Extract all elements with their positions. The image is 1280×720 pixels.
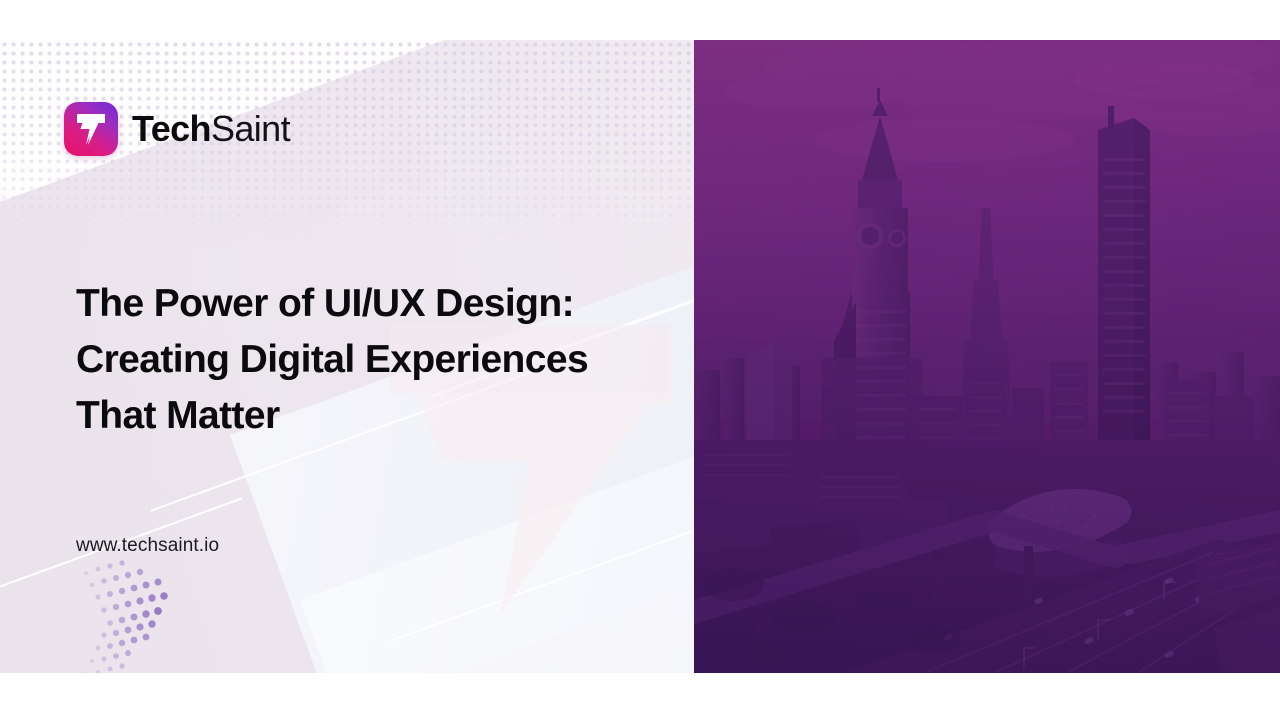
- left-content-panel: TechSaint The Power of UI/UX Design: Cre…: [0, 40, 694, 673]
- website-url[interactable]: www.techsaint.io: [76, 535, 219, 557]
- presentation-slide: TechSaint The Power of UI/UX Design: Cre…: [0, 40, 1280, 673]
- hero-photo-panel: [694, 40, 1280, 673]
- decorative-hairline: [390, 527, 694, 642]
- brand-name: TechSaint: [132, 111, 290, 147]
- brand-name-light: Saint: [211, 108, 290, 149]
- photo-duotone-overlay-2: [694, 40, 1280, 673]
- brand-logo[interactable]: TechSaint: [64, 102, 290, 156]
- decorative-chevron-dots: [72, 555, 192, 673]
- brand-name-bold: Tech: [132, 108, 211, 149]
- lightning-bolt-logo-icon: [64, 102, 118, 156]
- page-title: The Power of UI/UX Design: Creating Digi…: [76, 276, 676, 443]
